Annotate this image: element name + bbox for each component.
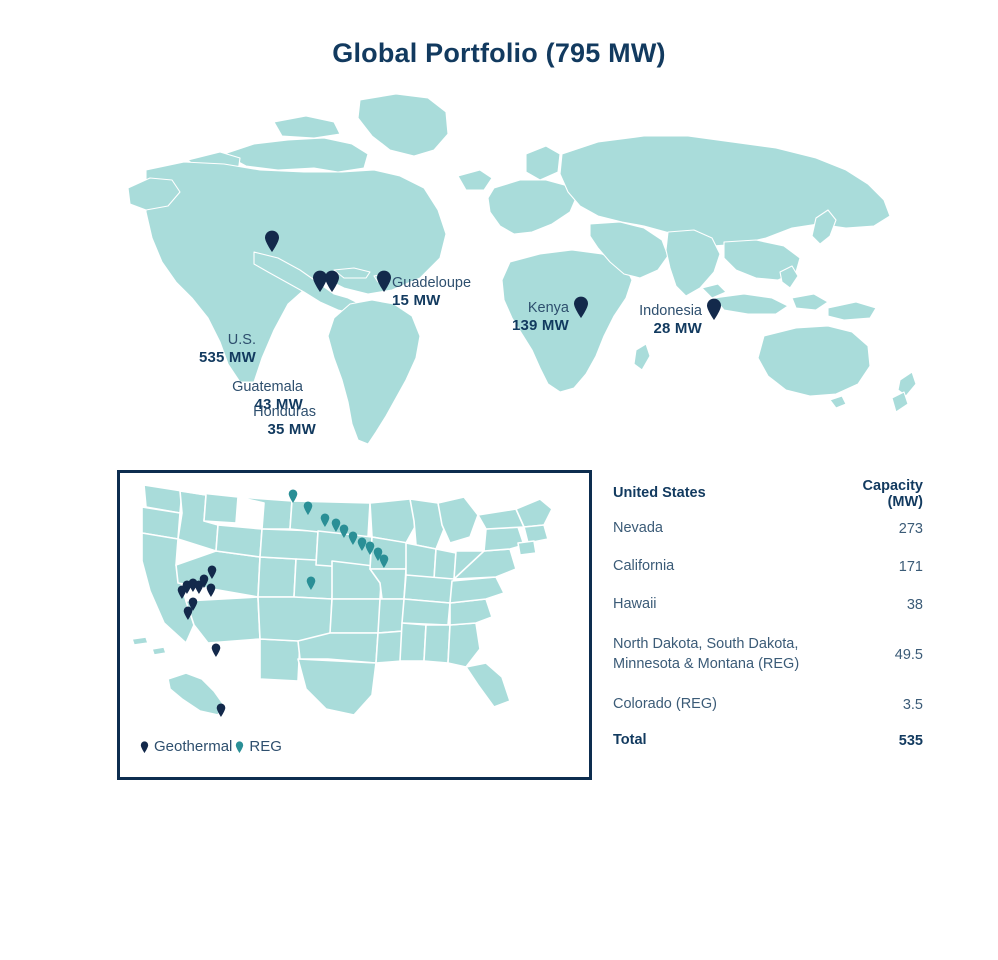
- map-pin-indonesia[interactable]: [706, 298, 722, 320]
- site-marker-geothermal[interactable]: [206, 583, 216, 597]
- table-cell-capacity: 38: [831, 597, 923, 613]
- table-cell-state: California: [613, 557, 831, 577]
- map-pin-us[interactable]: [264, 230, 280, 252]
- site-marker-reg[interactable]: [320, 513, 330, 527]
- table-cell-capacity: 273: [831, 521, 923, 537]
- table-total-value: 535: [831, 733, 923, 749]
- us-inset-map-panel: Geothermal REG: [117, 470, 592, 780]
- table-cell-capacity: 49.5: [831, 647, 923, 663]
- table-total-label: Total: [613, 731, 831, 751]
- page-title: Global Portfolio (795 MW): [0, 38, 998, 69]
- world-label-honduras: Honduras 35 MW: [216, 404, 316, 438]
- inset-legend: Geothermal REG: [140, 738, 282, 755]
- site-marker-geothermal[interactable]: [183, 606, 193, 620]
- us-map: [120, 473, 589, 721]
- world-map: U.S. 535 MW Guatemala 43 MW Honduras 35 …: [128, 92, 918, 462]
- site-marker-geothermal[interactable]: [177, 585, 187, 599]
- map-pin-icon: [235, 741, 244, 753]
- table-row: Colorado (REG) 3.5: [613, 686, 923, 724]
- world-label-guadeloupe-name: Guadeloupe: [392, 275, 522, 292]
- table-row: Hawaii 38: [613, 586, 923, 624]
- world-label-us: U.S. 535 MW: [138, 332, 256, 366]
- table-row: California 171: [613, 548, 923, 586]
- table-header-states: United States: [613, 484, 831, 504]
- map-pin-guadeloupe[interactable]: [376, 270, 392, 292]
- site-marker-reg[interactable]: [303, 501, 313, 515]
- map-pin-icon: [140, 741, 149, 753]
- world-label-honduras-capacity: 35 MW: [216, 421, 316, 438]
- global-portfolio-infographic: Global Portfolio (795 MW): [0, 0, 998, 960]
- world-label-kenya-name: Kenya: [483, 300, 569, 317]
- site-marker-reg[interactable]: [306, 576, 316, 590]
- world-label-kenya: Kenya 139 MW: [483, 300, 569, 334]
- table-cell-state: Hawaii: [613, 595, 831, 615]
- site-marker-geothermal[interactable]: [211, 643, 221, 657]
- site-marker-geothermal[interactable]: [216, 703, 226, 717]
- table-cell-state: Colorado (REG): [613, 695, 831, 715]
- table-row: North Dakota, South Dakota, Minnesota & …: [613, 624, 923, 686]
- site-marker-reg[interactable]: [379, 554, 389, 568]
- world-label-indonesia: Indonesia 28 MW: [596, 303, 702, 337]
- world-label-guatemala-name: Guatemala: [148, 379, 303, 396]
- table-row: Nevada 273: [613, 510, 923, 548]
- table-total-row: Total 535: [613, 724, 923, 758]
- world-label-indonesia-capacity: 28 MW: [596, 320, 702, 337]
- map-pin-honduras[interactable]: [324, 270, 340, 292]
- legend-item-reg: REG: [235, 738, 282, 755]
- table-header-capacity: Capacity (MW): [831, 478, 923, 510]
- site-marker-reg[interactable]: [288, 489, 298, 503]
- legend-item-geothermal: Geothermal: [140, 738, 232, 755]
- table-header-row: United States Capacity (MW): [613, 478, 923, 510]
- legend-label-geothermal: Geothermal: [154, 738, 232, 755]
- table-cell-state: North Dakota, South Dakota, Minnesota & …: [613, 635, 831, 674]
- map-pin-kenya[interactable]: [573, 296, 589, 318]
- table-cell-capacity: 171: [831, 559, 923, 575]
- world-label-us-capacity: 535 MW: [138, 349, 256, 366]
- world-label-indonesia-name: Indonesia: [596, 303, 702, 320]
- world-label-honduras-name: Honduras: [216, 404, 316, 421]
- us-capacity-table: United States Capacity (MW) Nevada 273 C…: [613, 478, 923, 758]
- legend-label-reg: REG: [249, 738, 282, 755]
- table-cell-state: Nevada: [613, 519, 831, 539]
- world-label-kenya-capacity: 139 MW: [483, 317, 569, 334]
- world-label-us-name: U.S.: [138, 332, 256, 349]
- table-cell-capacity: 3.5: [831, 697, 923, 713]
